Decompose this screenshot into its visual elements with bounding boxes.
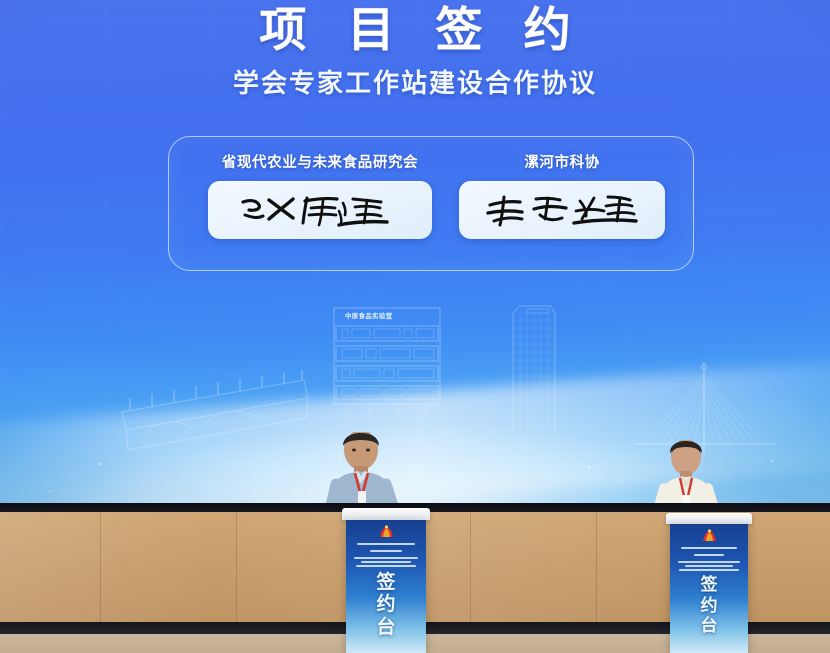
podium-right-column: 签 约 台: [670, 524, 748, 653]
podium-right-sign-char-3: 台: [701, 616, 718, 636]
signature-left-icon: [235, 189, 405, 231]
podium-left-sign-text: 签 约 台: [376, 572, 395, 639]
signature-box-right: [459, 181, 665, 239]
stadium-graphic: [118, 368, 314, 454]
podium-right-sign-char-1: 签: [701, 575, 718, 595]
podium-right-sign-char-2: 约: [701, 596, 718, 616]
podium-left: 签 约 台: [332, 508, 436, 653]
page-title: 项 目 签 约: [0, 4, 830, 57]
podium-left-banner: 签 约 台: [346, 520, 426, 653]
podium-right: 签 约 台: [658, 513, 758, 653]
signing-party-left: 省现代农业与未来食品研究会: [191, 151, 449, 239]
podium-left-banner-text-lines: [352, 543, 421, 567]
screenshot-root: 中原食品实验室: [0, 0, 830, 653]
org-label-left: 省现代农业与未来食品研究会: [222, 151, 418, 172]
person-left: [286, 432, 436, 510]
podium-left-sign-char-1: 签: [376, 572, 395, 594]
podium-left-column: 签 约 台: [346, 520, 426, 653]
page-subtitle: 学会专家工作站建设合作协议: [0, 63, 830, 100]
podium-left-sign-char-2: 约: [376, 594, 395, 616]
podium-right-banner: 签 约 台: [670, 524, 748, 653]
stage-wall-seam: [596, 512, 597, 622]
podium-right-sign-text: 签 约 台: [701, 575, 718, 635]
stage-wall-seam: [100, 512, 101, 622]
lab-building-caption: 中原食品实验室: [345, 311, 393, 320]
org-label-right: 漯河市科协: [524, 151, 600, 172]
podium-right-banner-text-lines: [675, 547, 742, 571]
podium-left-top: [342, 508, 430, 520]
skyscraper-graphic: [505, 300, 561, 432]
red-emblem-icon: [701, 529, 718, 544]
person-right: [622, 440, 752, 510]
signing-party-right: 漯河市科协: [453, 151, 671, 239]
stage-wall-seam: [236, 512, 237, 622]
podium-right-top: [666, 513, 752, 524]
stage-wall-seam: [470, 512, 471, 622]
signature-right-icon: [482, 189, 642, 231]
red-emblem-icon: [378, 525, 395, 540]
screen-headings: 项 目 签 约 学会专家工作站建设合作协议: [0, 4, 830, 100]
signature-box-left: [208, 181, 432, 239]
signing-panel: 省现代农业与未来食品研究会: [168, 136, 694, 271]
podium-left-sign-char-3: 台: [376, 617, 395, 639]
led-screen: 中原食品实验室: [0, 0, 830, 510]
laboratory-building-graphic: [330, 306, 444, 418]
